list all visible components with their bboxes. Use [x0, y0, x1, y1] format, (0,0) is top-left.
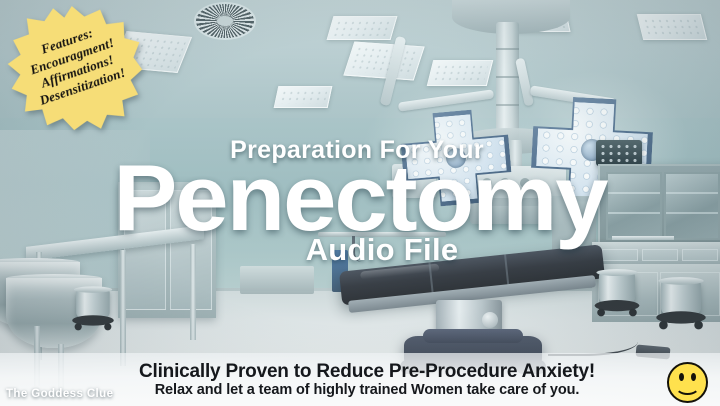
kick-bucket — [599, 273, 635, 304]
kick-bucket — [76, 290, 110, 319]
vent-hub — [217, 16, 233, 26]
banner-headline: Clinically Proven to Reduce Pre-Procedur… — [139, 361, 595, 382]
page-title: Penectomy — [0, 159, 720, 236]
table-leg — [120, 250, 126, 366]
ceiling-light-panel — [327, 16, 398, 40]
ceiling-light-panel — [274, 86, 333, 108]
banner-text: Clinically Proven to Reduce Pre-Procedur… — [139, 361, 595, 399]
ceiling-light-panel — [427, 60, 493, 86]
poster-canvas: Features: Encouragment! Affirmations! De… — [0, 0, 720, 406]
kick-bucket — [661, 281, 701, 315]
ceiling-light-panel — [637, 14, 707, 40]
watermark: The Goddess Clue — [6, 388, 113, 400]
ceiling-light-panel — [343, 41, 424, 80]
banner-subline: Relax and let a team of highly trained W… — [139, 382, 595, 399]
ceiling-vent-icon — [196, 4, 254, 38]
title-block: Preparation For Your Penectomy Audio Fil… — [0, 138, 720, 265]
smiley-face-icon — [667, 362, 708, 403]
features-starburst-badge: Features: Encouragment! Affirmations! De… — [5, 3, 145, 134]
supply-cart — [240, 266, 314, 294]
